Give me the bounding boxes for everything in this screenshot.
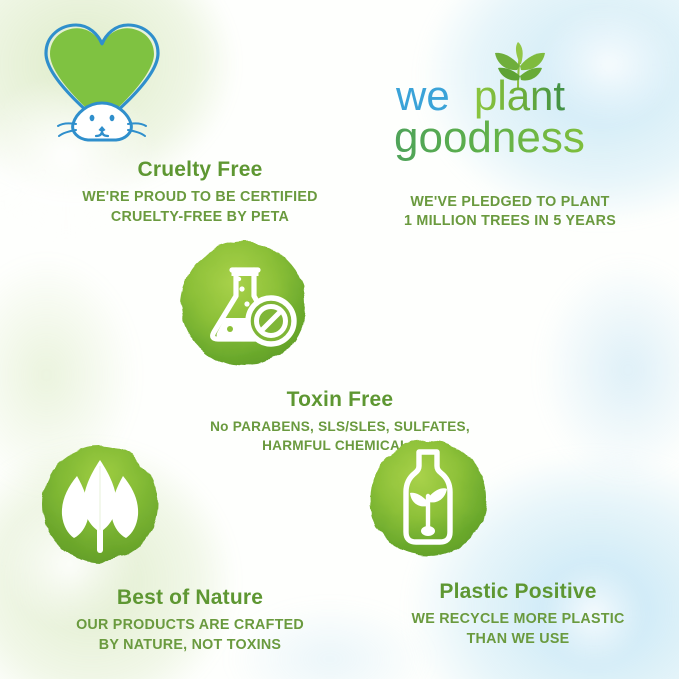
badge-description: WE RECYCLE MORE PLASTIC THAN WE USE [358, 610, 678, 649]
logo-word-plant: plant [474, 72, 565, 119]
badge-we-plant-goodness: we plant goodness WE'VE PLEDGED TO PLANT… [360, 42, 660, 232]
we-plant-goodness-logo: we plant goodness [382, 42, 638, 172]
badge-title: Cruelty Free [32, 158, 368, 181]
leaf-sprout-icon [30, 438, 350, 578]
flask-no-toxins-icon [170, 232, 510, 380]
badge-best-of-nature: Best of Nature OUR PRODUCTS ARE CRAFTED … [30, 438, 350, 655]
infographic-canvas: Cruelty Free WE'RE PROUD TO BE CERTIFIED… [0, 0, 679, 679]
badge-description: WE'RE PROUD TO BE CERTIFIED CRUELTY-FREE… [32, 188, 368, 227]
logo-word-goodness: goodness [394, 113, 585, 162]
badge-title: Best of Nature [30, 586, 350, 609]
badge-toxin-free: Toxin Free No PARABENS, SLS/SLES, SULFAT… [170, 232, 510, 455]
badge-plastic-positive: Plastic Positive WE RECYCLE MORE PLASTIC… [358, 432, 678, 649]
badge-cruelty-free: Cruelty Free WE'RE PROUD TO BE CERTIFIED… [32, 12, 368, 227]
bottle-plant-icon [358, 432, 678, 572]
badge-title: Toxin Free [170, 388, 510, 411]
logo-word-we: we [395, 72, 450, 119]
peta-bunny-heart-icon [32, 12, 368, 152]
badge-description: OUR PRODUCTS ARE CRAFTED BY NATURE, NOT … [30, 616, 350, 655]
badge-title: Plastic Positive [358, 580, 678, 603]
badge-description: WE'VE PLEDGED TO PLANT 1 MILLION TREES I… [360, 193, 660, 232]
